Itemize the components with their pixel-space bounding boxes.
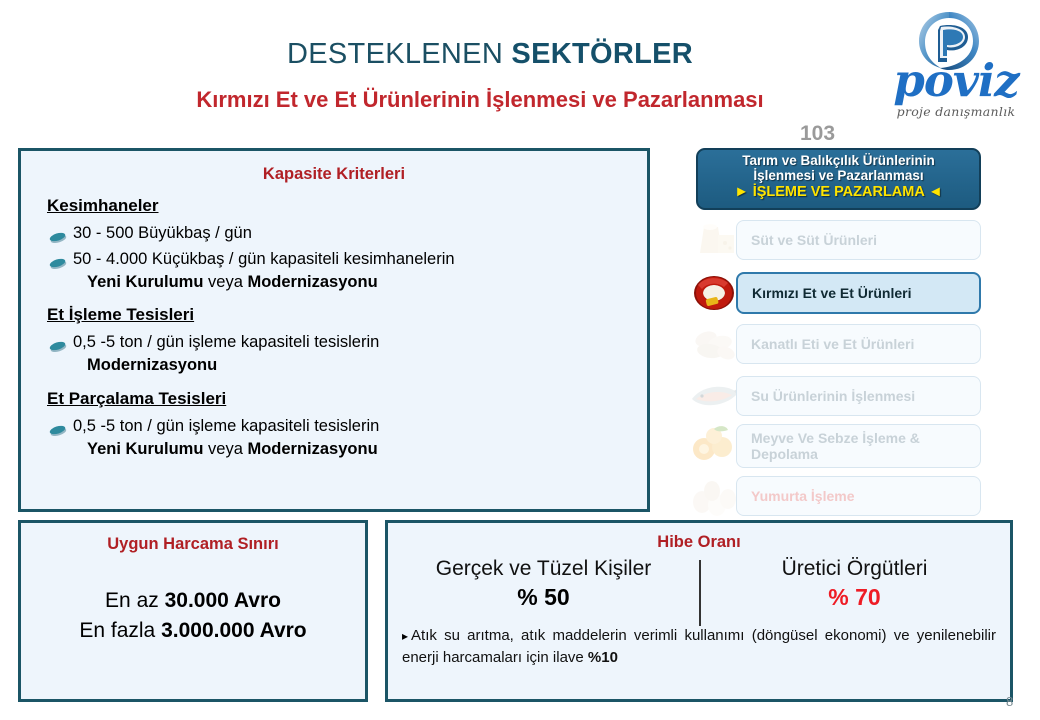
criteria-subtext-part: Modernizasyonu bbox=[87, 356, 217, 374]
sector-item-label: Kırmızı Et ve Et Ürünleri bbox=[752, 285, 911, 301]
criteria-row-subtext: Yeni Kurulumu veya Modernizasyonu bbox=[87, 439, 647, 460]
criteria-row-text: 50 - 4.000 Küçükbaş / gün kapasiteli kes… bbox=[73, 250, 455, 268]
sector-item-6[interactable]: Yumurta İşleme bbox=[736, 476, 981, 516]
expense-limit-panel: Uygun Harcama Sınırı En az 30.000 Avro E… bbox=[18, 520, 368, 702]
limit-min-label: En az bbox=[105, 589, 159, 612]
sector-item-label: Süt ve Süt Ürünleri bbox=[751, 232, 877, 248]
page-title-light: DESTEKLENEN bbox=[287, 38, 511, 70]
milk-cheese-thumb-icon bbox=[688, 219, 742, 261]
bullet-arrow-icon: ▸ bbox=[402, 629, 408, 643]
page-title-bold: SEKTÖRLER bbox=[511, 38, 693, 70]
page-number: 8 bbox=[1006, 694, 1013, 709]
criteria-body: Kesimhaneler30 - 500 Büyükbaş / gün50 - … bbox=[21, 184, 647, 460]
criteria-group: Et Parçalama Tesisleri0,5 -5 ton / gün i… bbox=[21, 377, 647, 460]
grant-note: ▸Atık su arıtma, atık maddelerin verimli… bbox=[402, 625, 996, 669]
limit-max-label: En fazla bbox=[79, 619, 155, 642]
leaf-bullet-icon bbox=[49, 337, 67, 348]
sector-sidebar-header: Tarım ve Balıkçılık Ürünlerinin İşlenmes… bbox=[696, 148, 981, 210]
criteria-panel-title: Kapasite Kriterleri bbox=[21, 165, 647, 184]
criteria-group-heading: Kesimhaneler bbox=[47, 196, 159, 216]
criteria-group: Et İşleme Tesisleri0,5 -5 ton / gün işle… bbox=[21, 293, 647, 376]
fruit-thumb-icon bbox=[688, 423, 742, 465]
limit-max-row: En fazla 3.000.000 Avro bbox=[21, 616, 365, 646]
criteria-subtext-part: veya bbox=[203, 273, 247, 291]
sector-header-line1: Tarım ve Balıkçılık Ürünlerinin bbox=[698, 153, 979, 168]
criteria-group-heading: Et Parçalama Tesisleri bbox=[47, 389, 226, 409]
sector-header-line2: İşlenmesi ve Pazarlanması bbox=[698, 168, 979, 183]
grant-label-0: Gerçek ve Tüzel Kişiler bbox=[388, 556, 699, 582]
sector-sidebar: Tarım ve Balıkçılık Ürünlerinin İşlenmes… bbox=[688, 148, 998, 512]
eggs-thumb-icon bbox=[688, 475, 742, 517]
sector-item-label: Su Ürünlerinin İşlenmesi bbox=[751, 388, 915, 404]
limit-values: En az 30.000 Avro En fazla 3.000.000 Avr… bbox=[21, 586, 365, 646]
grant-note-bold: %10 bbox=[588, 649, 618, 666]
grant-columns: Gerçek ve Tüzel Kişiler % 50 Üretici Örg… bbox=[388, 556, 1010, 611]
limit-panel-title: Uygun Harcama Sınırı bbox=[21, 535, 365, 554]
sector-item-label: Meyve Ve Sebze İşleme & Depolama bbox=[751, 430, 980, 462]
criteria-subtext-part: Yeni Kurulumu bbox=[87, 273, 203, 291]
leaf-bullet-icon bbox=[49, 254, 67, 265]
criteria-subtext-part: Modernizasyonu bbox=[247, 440, 377, 458]
fish-thumb-icon bbox=[688, 375, 742, 417]
criteria-row-text: 30 - 500 Büyükbaş / gün bbox=[73, 224, 252, 242]
grant-note-part2: harcamaları için ilave bbox=[443, 649, 588, 666]
criteria-group-heading: Et İşleme Tesisleri bbox=[47, 305, 194, 325]
capacity-criteria-panel: Kapasite Kriterleri Kesimhaneler30 - 500… bbox=[18, 148, 650, 512]
leaf-bullet-icon bbox=[49, 421, 67, 432]
poultry-thumb-icon bbox=[688, 323, 742, 365]
sector-item-label: Kanatlı Eti ve Et Ürünleri bbox=[751, 336, 914, 352]
grant-label-1: Üretici Örgütleri bbox=[699, 556, 1010, 582]
sector-item-1[interactable]: Süt ve Süt Ürünleri bbox=[736, 220, 981, 260]
grant-column-natural-legal: Gerçek ve Tüzel Kişiler % 50 bbox=[388, 556, 699, 611]
limit-max-value: 3.000.000 Avro bbox=[161, 619, 307, 642]
criteria-row-subtext: Modernizasyonu bbox=[87, 355, 647, 376]
grant-column-divider bbox=[699, 560, 701, 626]
sector-item-2[interactable]: Kırmızı Et ve Et Ürünleri bbox=[736, 272, 981, 314]
criteria-row: 0,5 -5 ton / gün işleme kapasiteli tesis… bbox=[49, 332, 647, 376]
criteria-row: 50 - 4.000 Küçükbaş / gün kapasiteli kes… bbox=[49, 249, 647, 293]
leaf-bullet-icon bbox=[49, 228, 67, 239]
sector-code-number: 103 bbox=[800, 122, 835, 146]
sector-item-5[interactable]: Meyve Ve Sebze İşleme & Depolama bbox=[736, 424, 981, 468]
criteria-row-subtext: Yeni Kurulumu veya Modernizasyonu bbox=[87, 272, 647, 293]
company-logo: poviz proje danışmanlık bbox=[878, 8, 1034, 126]
criteria-row: 30 - 500 Büyükbaş / gün bbox=[49, 223, 647, 244]
criteria-row-text: 0,5 -5 ton / gün işleme kapasiteli tesis… bbox=[73, 417, 379, 435]
criteria-subtext-part: veya bbox=[203, 440, 247, 458]
sector-item-3[interactable]: Kanatlı Eti ve Et Ürünleri bbox=[736, 324, 981, 364]
sector-item-4[interactable]: Su Ürünlerinin İşlenmesi bbox=[736, 376, 981, 416]
criteria-subtext-part: Yeni Kurulumu bbox=[87, 440, 203, 458]
logo-wordmark: poviz bbox=[878, 58, 1034, 103]
criteria-subtext-part: Modernizasyonu bbox=[247, 273, 377, 291]
grant-value-0: % 50 bbox=[388, 584, 699, 611]
logo-tagline: proje danışmanlık bbox=[878, 104, 1034, 119]
criteria-group: Kesimhaneler30 - 500 Büyükbaş / gün50 - … bbox=[21, 184, 647, 293]
sector-header-line3: ► İŞLEME VE PAZARLAMA ◄ bbox=[698, 184, 979, 201]
grant-rate-panel: Hibe Oranı Gerçek ve Tüzel Kişiler % 50 … bbox=[385, 520, 1013, 702]
page-subtitle: Kırmızı Et ve Et Ürünlerinin İşlenmesi v… bbox=[100, 87, 860, 113]
criteria-row: 0,5 -5 ton / gün işleme kapasiteli tesis… bbox=[49, 416, 647, 460]
grant-column-producer-orgs: Üretici Örgütleri % 70 bbox=[699, 556, 1010, 611]
criteria-row-text: 0,5 -5 ton / gün işleme kapasiteli tesis… bbox=[73, 333, 379, 351]
grant-value-1: % 70 bbox=[699, 584, 1010, 611]
limit-min-value: 30.000 Avro bbox=[165, 589, 281, 612]
limit-min-row: En az 30.000 Avro bbox=[21, 586, 365, 616]
sausage-thumb-icon bbox=[688, 271, 742, 313]
grant-panel-title: Hibe Oranı bbox=[388, 533, 1010, 552]
sector-item-label: Yumurta İşleme bbox=[751, 488, 855, 504]
page-title: DESTEKLENEN SEKTÖRLER bbox=[120, 38, 860, 71]
